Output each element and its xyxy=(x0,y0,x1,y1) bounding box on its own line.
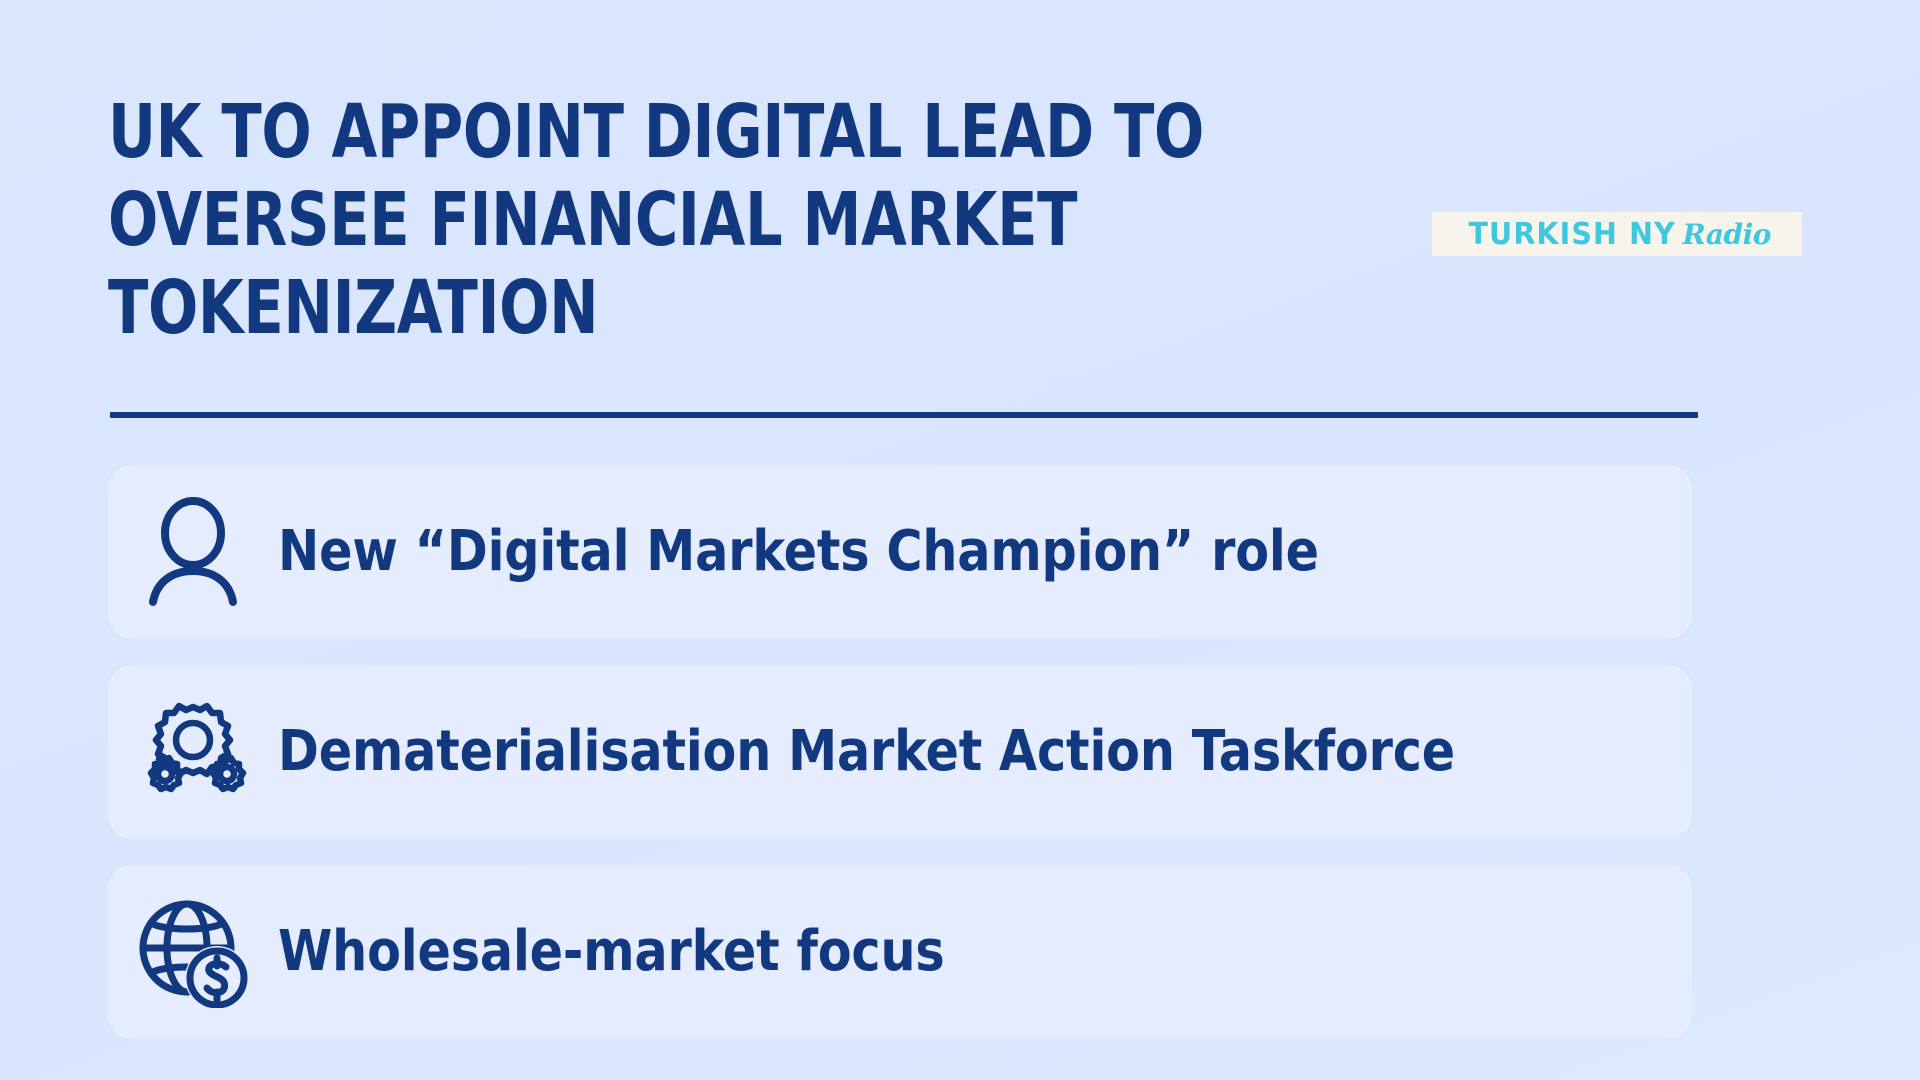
highlights-list: New “Digital Markets Champion” role Dema… xyxy=(108,465,1692,1065)
globe-dollar-icon xyxy=(108,865,278,1039)
list-item-label: New “Digital Markets Champion” role xyxy=(278,522,1319,582)
person-icon xyxy=(108,465,278,639)
list-item: Wholesale-market focus xyxy=(108,865,1692,1039)
page-title: UK TO APPOINT DIGITAL LEAD TO OVERSEE FI… xyxy=(108,88,1244,352)
list-item: New “Digital Markets Champion” role xyxy=(108,465,1692,639)
brand-logo-main-text: TURKISH NY xyxy=(1469,217,1676,252)
gears-icon xyxy=(108,665,278,839)
brand-logo-script-text: Radio xyxy=(1682,218,1770,251)
infographic-page: UK TO APPOINT DIGITAL LEAD TO OVERSEE FI… xyxy=(0,0,1920,1080)
brand-logo: TURKISH NY Radio xyxy=(1432,212,1802,256)
list-item-label: Wholesale-market focus xyxy=(278,922,945,982)
list-item: Dematerialisation Market Action Taskforc… xyxy=(108,665,1692,839)
list-item-label: Dematerialisation Market Action Taskforc… xyxy=(278,722,1455,782)
title-divider xyxy=(110,412,1698,418)
